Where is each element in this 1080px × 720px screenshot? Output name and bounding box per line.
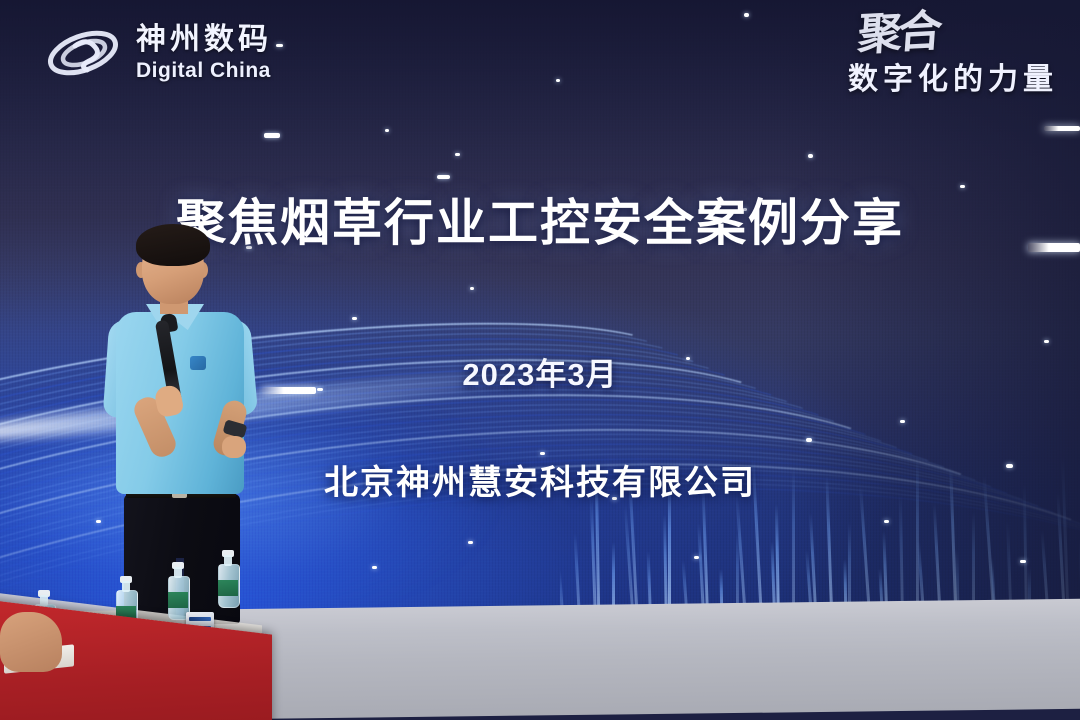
light-particle <box>1044 340 1049 343</box>
light-particle <box>900 420 905 423</box>
bottle-neck <box>174 567 182 578</box>
event-slogan: 聚合 数字化的力量 <box>848 16 1058 98</box>
water-bottle <box>168 576 188 620</box>
conference-photo: 神州数码 Digital China 聚合 数字化的力量 聚焦烟草行业工控安全案… <box>0 0 1080 720</box>
light-particle <box>744 13 749 17</box>
audience-hand <box>0 612 62 672</box>
slogan-subtitle: 数字化的力量 <box>848 54 1058 98</box>
bottle-neck <box>40 595 48 606</box>
light-particle <box>276 44 283 47</box>
light-particle <box>264 133 280 138</box>
brand-name-en: Digital China <box>136 60 272 81</box>
chest-logo-icon <box>190 356 206 370</box>
light-particle <box>884 520 889 523</box>
light-particle <box>352 317 357 320</box>
brand-name-cn: 神州数码 <box>136 25 272 55</box>
brand-logo: 神州数码 Digital China <box>44 22 272 84</box>
light-streak <box>1044 126 1080 131</box>
slogan-calligraphy: 聚合 <box>847 14 940 55</box>
speaker-hair <box>136 224 210 266</box>
light-particle <box>808 154 813 158</box>
light-particle <box>470 287 474 290</box>
light-particle <box>455 153 460 156</box>
digital-china-swirl-icon <box>44 22 122 84</box>
light-particle <box>385 129 389 132</box>
light-particle <box>372 566 377 569</box>
bottle-neck <box>122 581 130 592</box>
water-bottle <box>218 564 238 608</box>
light-particle <box>437 175 450 179</box>
light-particle <box>806 438 812 442</box>
light-particle <box>468 541 473 544</box>
bottle-label <box>168 592 188 608</box>
light-particle <box>694 556 699 559</box>
speaker-right-hand <box>222 436 246 458</box>
light-particle <box>556 79 560 82</box>
bottle-label <box>218 580 238 596</box>
light-particle <box>1020 560 1026 563</box>
bottle-body <box>218 564 240 608</box>
bottle-neck <box>224 555 232 566</box>
